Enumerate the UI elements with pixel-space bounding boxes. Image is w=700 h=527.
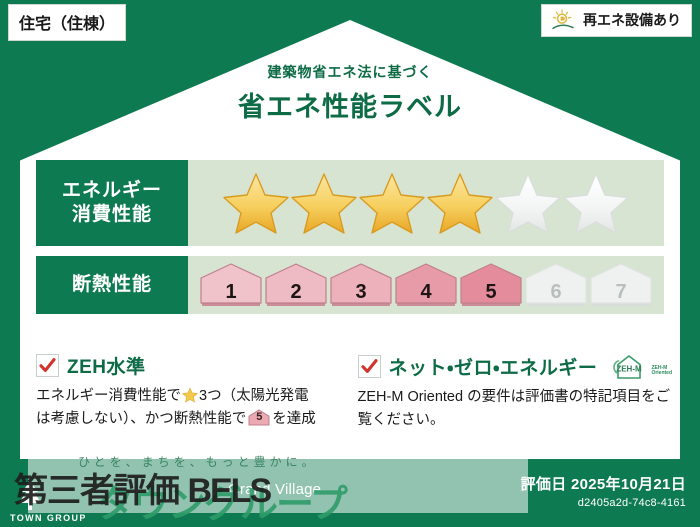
insulation-level-scale: 1234567 [199,263,653,307]
energy-label-card: 住宅（住棟） 再エネ設備あり 建築物省エネ法に基づく 省エネ性能ラベル [0,0,700,527]
check-icon [36,354,59,377]
footer-bar: Grand Village 評価日 2025年10月21日 d2405a2d-7… [0,459,700,527]
insulation-level-filled: 4 [394,263,458,307]
sun-solar-icon [550,9,576,31]
zeh-body-part3: を達成 [272,411,316,427]
insulation-level-filled: 1 [199,263,263,307]
label-main-title: 省エネ性能ラベル [0,85,700,124]
insulation-level-filled: 3 [329,263,393,307]
inline-level-badge: 5 [248,409,270,426]
zeh-note-title: ZEH水準 [67,352,146,379]
insulation-level-filled: 2 [264,263,328,307]
evaluation-info: 評価日 2025年10月21日 d2405a2d-74c8-4161 [521,473,686,509]
net-zero-note-title: ネット・ゼロ・エネルギー [389,353,598,380]
star-filled-icon [291,171,357,235]
star-empty-icon [495,171,561,235]
inline-star-icon [181,388,199,404]
star-filled-icon [359,171,425,235]
zeh-note-heading: ZEH水準 [36,352,342,379]
zeh-note-column: ZEH水準 エネルギー消費性能で 3つ（太陽光発電は考慮しない）、かつ断熱性能で… [36,352,342,433]
star-filled-icon [427,171,493,235]
insulation-level-empty: 7 [589,263,653,307]
energy-performance-value [188,160,664,246]
renewable-badge-label: 再エネ設備あり [583,10,681,30]
net-zero-note-heading: ネット・ゼロ・エネルギー ZEH-M ZEH-M Oriented [358,352,672,380]
zeh-body-part1: エネルギー消費性能で [36,388,181,404]
svg-text:ZEH-M: ZEH-M [617,364,643,373]
label-title-block: 建築物省エネ法に基づく 省エネ性能ラベル [0,62,700,124]
insulation-performance-row: 断熱性能 1234567 [36,256,664,314]
net-zero-note-column: ネット・ゼロ・エネルギー ZEH-M ZEH-M Oriented ZEH-M … [358,352,672,433]
zeh-star-count: 3つ（太陽光発電 [199,388,309,404]
project-name: Grand Village [228,481,321,498]
evaluation-date: 評価日 2025年10月21日 [521,473,686,494]
energy-performance-row: エネルギー 消費性能 [36,160,664,246]
star-rating [223,171,629,235]
corporate-mark: TOWN GROUP [10,479,87,523]
zeh-m-logo-caption: ZEH-M Oriented [651,366,672,381]
star-empty-icon [563,171,629,235]
energy-label-line1: エネルギー [62,179,162,203]
tree-logo-icon [10,479,50,513]
label-subtitle: 建築物省エネ法に基づく [0,62,700,82]
insulation-level-filled: 5 [459,263,523,307]
insulation-level-empty: 6 [524,263,588,307]
corporate-name: TOWN GROUP [10,513,87,523]
inline-level-badge-value: 5 [248,409,270,427]
insulation-performance-label: 断熱性能 [36,256,188,314]
insulation-label-line1: 断熱性能 [72,273,152,297]
renewable-equipment-badge: 再エネ設備あり [541,4,692,37]
zeh-body-part2: は考慮しない）、かつ断熱性能で [36,411,246,427]
star-filled-icon [223,171,289,235]
zeh-m-logo-icon: ZEH-M ZEH-M Oriented [609,352,672,380]
evaluation-id: d2405a2d-74c8-4161 [521,497,686,509]
energy-label-line2: 消費性能 [72,203,152,227]
net-zero-note-body: ZEH-M Oriented の要件は評価書の特記項目をご覧ください。 [358,386,672,433]
house-type-badge: 住宅（住棟） [8,4,126,41]
notes-section: ZEH水準 エネルギー消費性能で 3つ（太陽光発電は考慮しない）、かつ断熱性能で… [36,352,672,433]
check-icon [358,355,381,378]
performance-rows: エネルギー 消費性能 断熱性能 1234567 [36,160,664,324]
zeh-note-body: エネルギー消費性能で 3つ（太陽光発電は考慮しない）、かつ断熱性能で 5 を達成 [36,385,342,432]
insulation-performance-value: 1234567 [188,256,664,314]
energy-performance-label: エネルギー 消費性能 [36,160,188,246]
